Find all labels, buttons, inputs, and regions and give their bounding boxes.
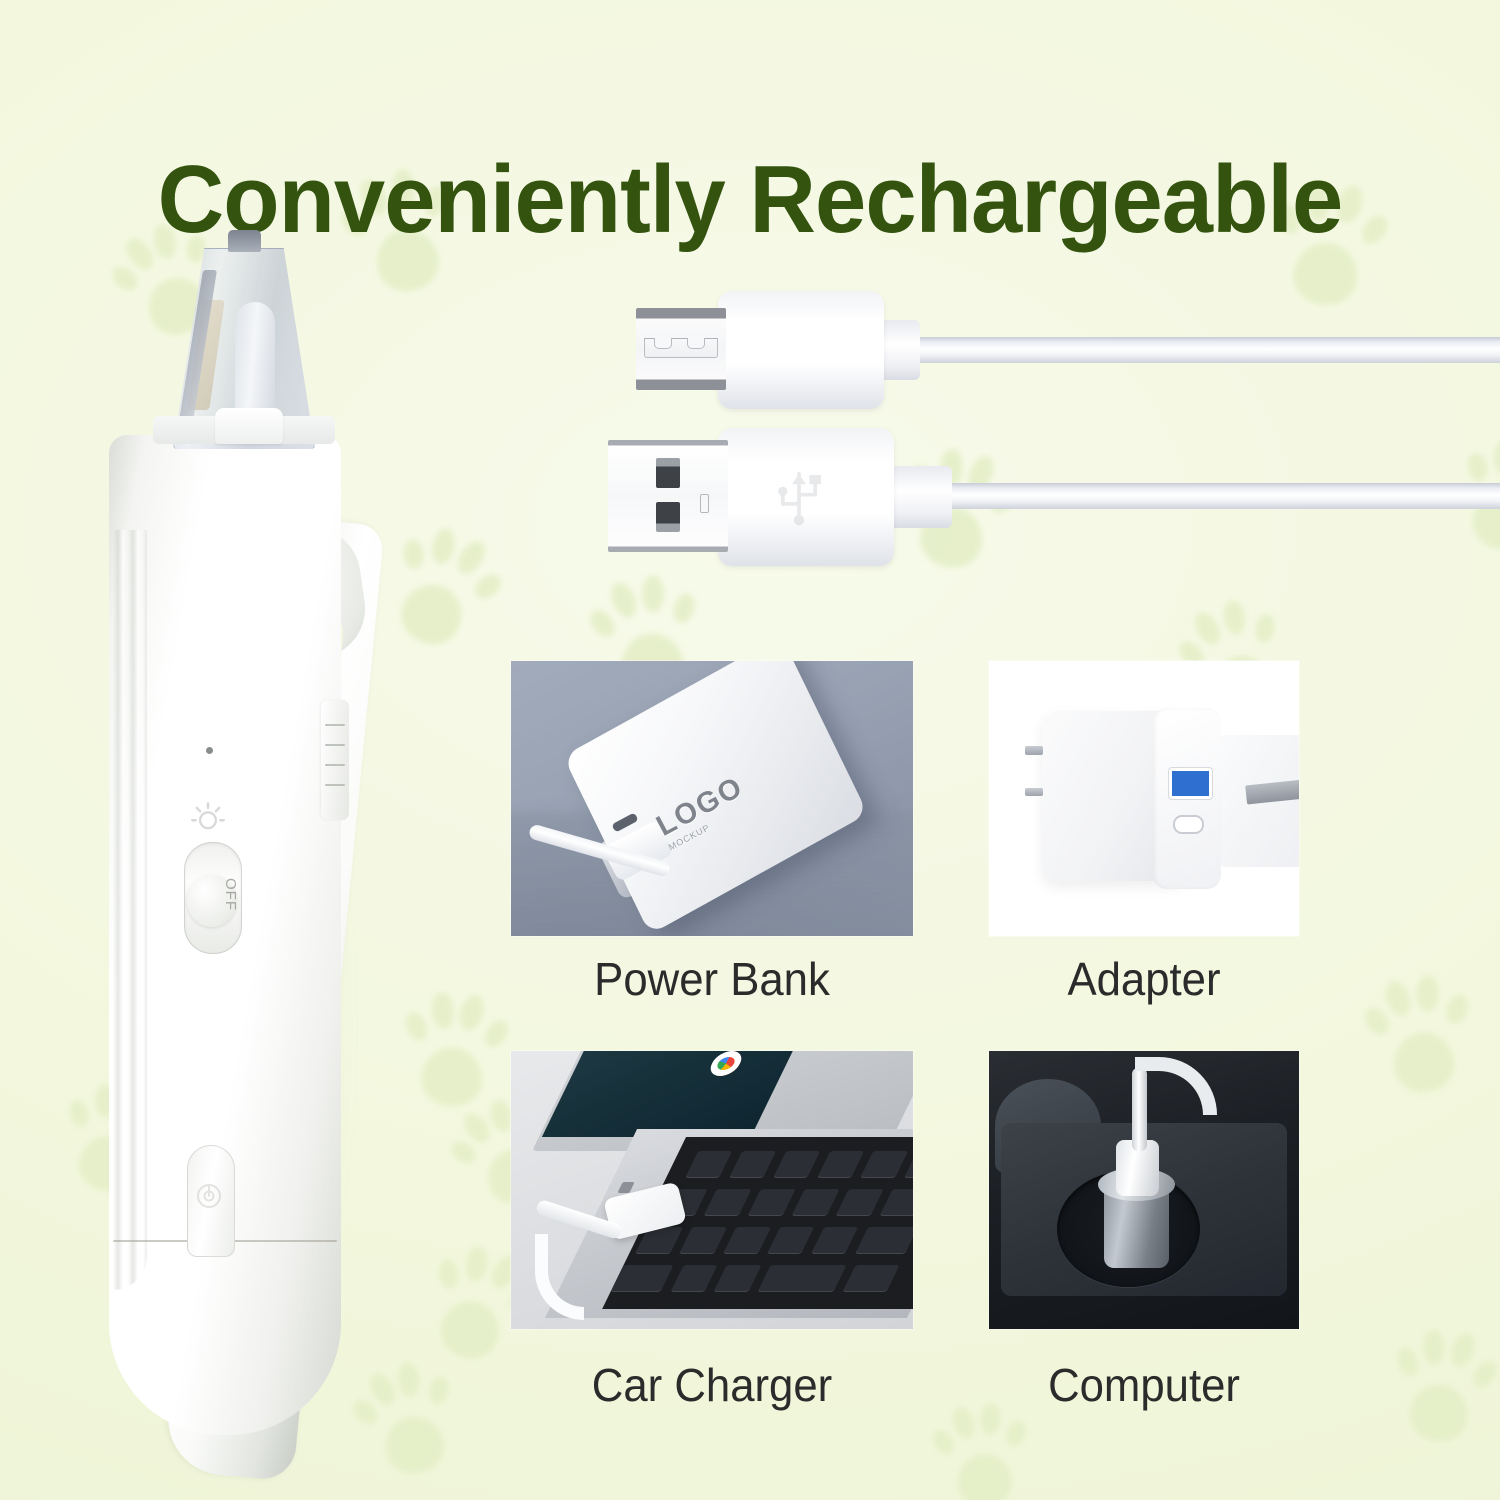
power-icon — [193, 1180, 225, 1212]
usb-a-shell — [718, 428, 894, 566]
usb-a-slot — [700, 494, 709, 513]
cable-wire — [905, 337, 1500, 363]
product-nail-clipper: OFF — [95, 230, 465, 1430]
adapter-photo — [989, 661, 1299, 936]
infographic-canvas: Conveniently Rechargeable — [0, 0, 1500, 1500]
paw-print-icon — [1378, 1311, 1500, 1458]
micro-usb-contact-notch — [644, 338, 718, 358]
usb-trident-icon — [762, 460, 836, 534]
body-grip-ridges — [113, 530, 147, 1290]
switch-off-label: OFF — [222, 878, 239, 911]
guard-clip — [215, 408, 283, 444]
light-icon — [190, 800, 226, 836]
tile-label-computer: Computer — [997, 1358, 1292, 1412]
cable-wire — [938, 483, 1500, 509]
usb-a-tip-icon — [608, 440, 728, 552]
tile-power-bank[interactable]: LOGO MOCKUP — [511, 661, 913, 936]
plug-prong — [1025, 746, 1044, 754]
usb-a-pin — [656, 458, 680, 488]
laptop-photo — [511, 1051, 913, 1329]
tile-car-charger[interactable] — [511, 1051, 913, 1329]
guard-inner-post — [235, 302, 275, 422]
car-charger-photo — [989, 1051, 1299, 1329]
tile-computer[interactable] — [989, 1051, 1299, 1329]
tile-label-power-bank: Power Bank — [521, 952, 903, 1006]
usb-a-port — [1169, 768, 1212, 799]
power-bank-photo: LOGO MOCKUP — [511, 661, 913, 936]
usb-a-pin — [656, 502, 680, 532]
tile-label-car-charger: Car Charger — [521, 1358, 903, 1412]
micro-usb-shell — [718, 291, 884, 409]
micro-usb-tip-icon — [636, 308, 726, 390]
usb-c-port — [1173, 815, 1203, 834]
tile-adapter[interactable] — [989, 661, 1299, 936]
side-button[interactable] — [321, 700, 349, 820]
led-indicator-icon — [206, 747, 213, 754]
tile-label-adapter: Adapter — [997, 952, 1292, 1006]
plug-prong — [1025, 788, 1044, 796]
connector-strain-relief — [884, 466, 952, 528]
guard-top-nub — [228, 230, 261, 252]
paw-print-icon — [1353, 959, 1487, 1108]
